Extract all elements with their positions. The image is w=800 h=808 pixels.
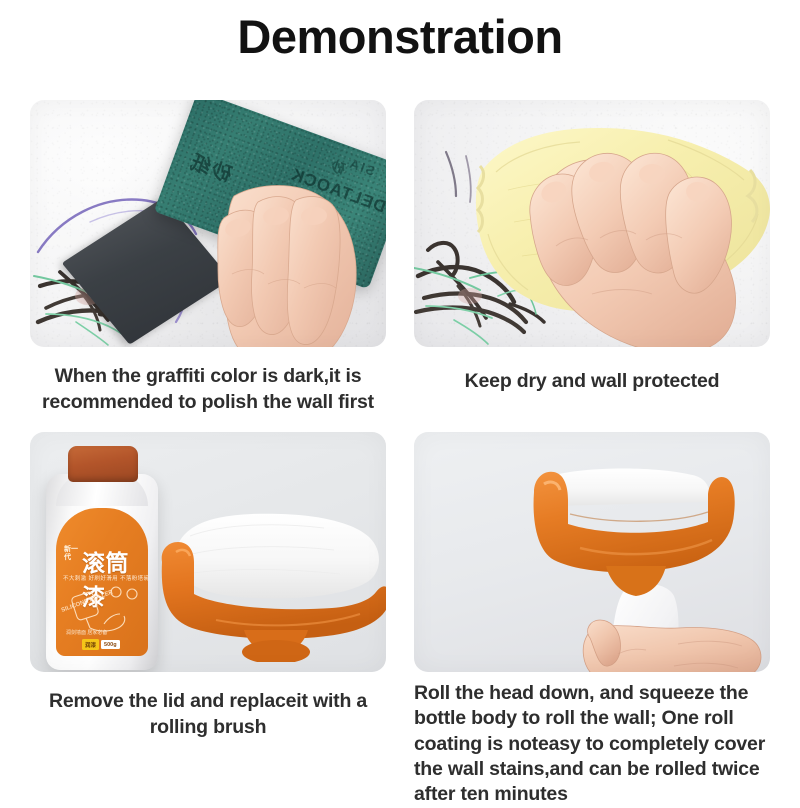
photo-sanding-block-on-graffiti-wall: DELTAOCK SIA 砂纸 砂块 砂 xyxy=(30,100,386,347)
demo-step-3: 新一代 滚筒漆 不大刺激 好刷好滑用 不落粉塔碗 水性环保漆 SILICONE … xyxy=(30,432,386,741)
demo-step-4: Roll the head down, and squeeze the bott… xyxy=(414,432,770,808)
demo-step-2: Keep dry and wall protected xyxy=(414,100,770,395)
bottle-label: 新一代 滚筒漆 不大刺激 好刷好滑用 不落粉塔碗 水性环保漆 SILICONE … xyxy=(56,508,148,656)
paint-bottle: 新一代 滚筒漆 不大刺激 好刷好滑用 不落粉塔碗 水性环保漆 SILICONE … xyxy=(46,446,158,670)
hand-holding-sanding-block xyxy=(194,166,386,347)
roller-brush-on-wall xyxy=(510,462,740,618)
caption-step-2: Keep dry and wall protected xyxy=(414,369,770,395)
label-kicker-text: 新一代 xyxy=(64,546,80,562)
page-title: Demonstration xyxy=(0,10,800,64)
label-roller-illustration: SILICONE ROLLER xyxy=(60,584,144,636)
label-weight: 500g xyxy=(101,640,120,649)
photo-hand-wiping-wall-with-yellow-cloth xyxy=(414,100,770,347)
label-subtitle: 不大刺激 好刷好滑用 不落粉塔碗 水性环保漆 xyxy=(63,574,141,582)
bottle-cap xyxy=(68,446,138,482)
label-badge: 润漆 500g xyxy=(82,639,120,650)
roller-brush-head xyxy=(156,502,386,662)
demo-step-1: DELTAOCK SIA 砂纸 砂块 砂 xyxy=(30,100,386,416)
label-badge-chip: 润漆 xyxy=(82,639,99,650)
hand-wiping xyxy=(500,130,760,347)
caption-step-1: When the graffiti color is dark,it is re… xyxy=(30,364,386,416)
label-fine-print: 润剑墙面 居家必备 xyxy=(66,630,140,638)
caption-step-3: Remove the lid and replaceit with a roll… xyxy=(30,689,386,741)
photo-paint-bottle-and-roller-brush-head: 新一代 滚筒漆 不大刺激 好刷好滑用 不落粉塔碗 水性环保漆 SILICONE … xyxy=(30,432,386,672)
caption-step-4: Roll the head down, and squeeze the bott… xyxy=(414,681,770,808)
photo-rolling-paint-onto-wall-with-hand xyxy=(414,432,770,672)
